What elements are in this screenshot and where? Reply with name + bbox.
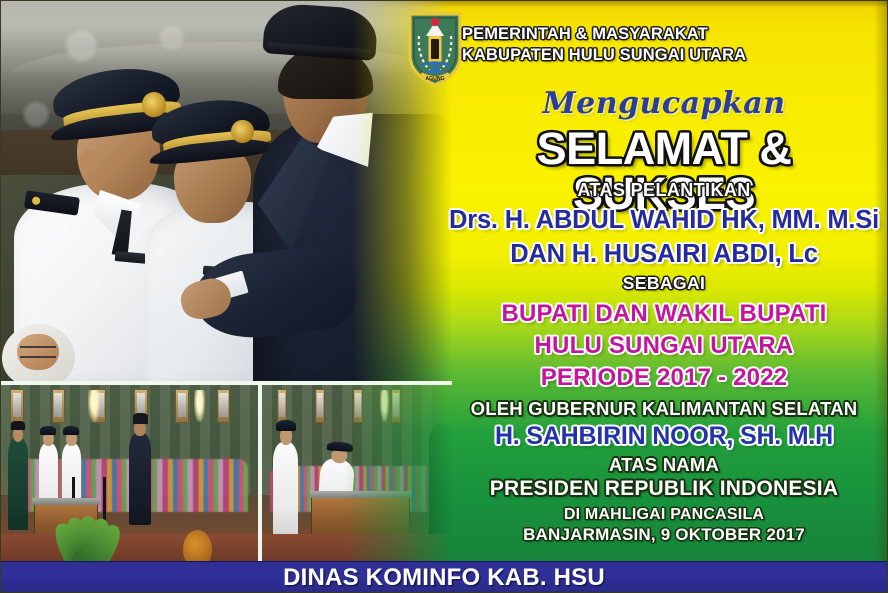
text-column: PEMERINTAH & MASYARAKAT KABUPATEN HULU S… <box>440 0 888 562</box>
officer-front-ear <box>80 149 99 173</box>
as-label: SEBAGAI <box>440 273 888 294</box>
lower-photo-strip <box>0 385 452 562</box>
on-behalf-label: ATAS NAMA <box>440 454 888 476</box>
organization-header: PEMERINTAH & MASYARAKAT KABUPATEN HULU S… <box>462 24 882 67</box>
oath-taking-ceremony-photo <box>0 385 258 562</box>
document-signing-photo <box>262 385 452 562</box>
governor-reading-oath <box>129 433 151 525</box>
header-line-1: PEMERINTAH & MASYARAKAT <box>462 24 882 45</box>
footer-bar: DINAS KOMINFO KAB. HSU <box>0 561 888 593</box>
chandelier-icon <box>88 390 100 422</box>
venue-label: DI MAHLIGAI PANCASILA <box>440 506 888 524</box>
position-line-1: BUPATI DAN WAKIL BUPATI <box>440 300 888 328</box>
red-carpet <box>262 534 452 562</box>
audience-woman-hijab <box>2 324 74 381</box>
greeting-script: Mengucapkan <box>440 86 888 121</box>
chandelier-icon <box>380 390 389 422</box>
city-date-label: BANJARMASIN, 9 OKTOBER 2017 <box>440 525 888 545</box>
chandelier-icon <box>194 390 206 422</box>
header-line-2: KABUPATEN HULU SUNGAI UTARA <box>462 45 882 66</box>
photo-separator-vertical <box>258 385 262 562</box>
photo-scene-main <box>0 0 452 381</box>
eyeglasses-icon <box>20 346 56 358</box>
inaugurator-name: H. SAHBIRIN NOOR, SH. M.H <box>440 422 888 451</box>
position-line-2: HULU SUNGAI UTARA <box>440 332 888 360</box>
ceremonial-gong-icon <box>183 530 211 562</box>
officer-standing-white-uniform <box>273 442 298 538</box>
photo-scene-oath <box>0 385 258 562</box>
position-period: PERIODE 2017 - 2022 <box>440 364 888 392</box>
honoree-name-primary: Drs. H. ABDUL WAHID HK, MM. M.Si <box>440 206 888 235</box>
congratulation-banner: AGUNG PEMERINTAH & MASYARAKAT KABUPATEN … <box>0 0 888 593</box>
hall-portrait-frames <box>0 389 258 435</box>
occasion-label: ATAS PELANTIKAN <box>440 180 888 201</box>
inaugurator-label: OLEH GUBERNUR KALIMANTAN SELATAN <box>440 398 888 420</box>
honoree-name-secondary: DAN H. HUSAIRI ABDI, Lc <box>440 240 888 269</box>
photo-scene-signing <box>262 385 452 562</box>
official-in-green-robe <box>8 438 29 530</box>
inauguration-congratulation-photo <box>0 0 452 381</box>
foreground-plant <box>34 516 106 562</box>
footer-label: DINAS KOMINFO KAB. HSU <box>0 562 888 593</box>
headline-selamat-sukses: SELAMAT & SUKSES <box>440 126 888 216</box>
on-behalf-of: PRESIDEN REPUBLIK INDONESIA <box>440 477 888 501</box>
